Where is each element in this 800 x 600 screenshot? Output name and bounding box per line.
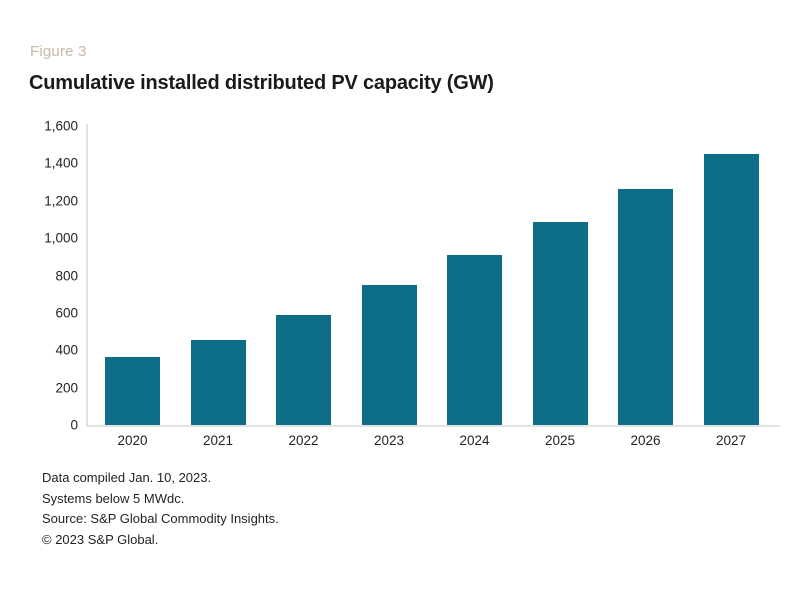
- figure-card: Figure 3 Cumulative installed distribute…: [0, 0, 800, 600]
- x-axis-tick-label: 2027: [701, 433, 761, 448]
- bar: [704, 154, 759, 425]
- bar: [276, 315, 331, 425]
- bar: [191, 340, 246, 425]
- x-axis-tick-label: 2020: [103, 433, 163, 448]
- x-axis-tick-label: 2024: [445, 433, 505, 448]
- x-axis-tick-label: 2026: [616, 433, 676, 448]
- x-axis-tick-label: 2022: [274, 433, 334, 448]
- footnotes: Data compiled Jan. 10, 2023.Systems belo…: [42, 468, 279, 550]
- bar: [362, 285, 417, 425]
- bar: [105, 357, 160, 425]
- x-axis-tick-label: 2023: [359, 433, 419, 448]
- footnote-line: Systems below 5 MWdc.: [42, 489, 279, 510]
- x-axis-tick-label: 2025: [530, 433, 590, 448]
- footnote-line: © 2023 S&P Global.: [42, 530, 279, 551]
- bar: [533, 222, 588, 425]
- x-axis-tick-label: 2021: [188, 433, 248, 448]
- footnote-line: Source: S&P Global Commodity Insights.: [42, 509, 279, 530]
- bar: [618, 189, 673, 425]
- footnote-line: Data compiled Jan. 10, 2023.: [42, 468, 279, 489]
- bar: [447, 255, 502, 425]
